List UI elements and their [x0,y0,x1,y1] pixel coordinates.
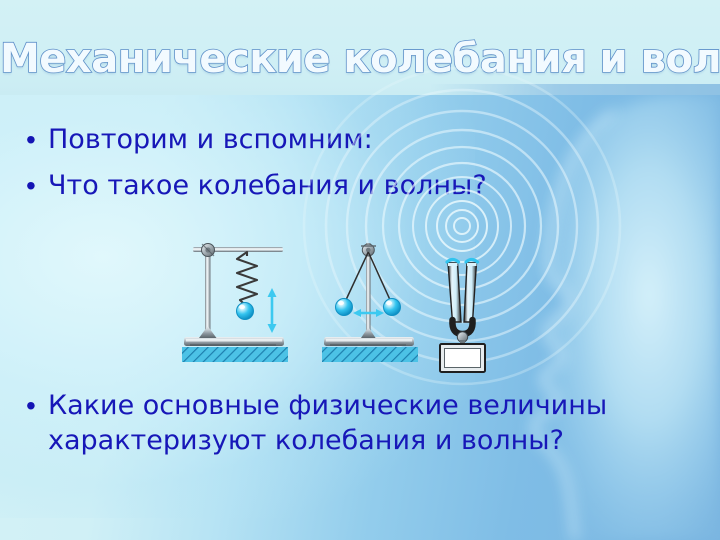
bullet-list-bottom: • Какие основные физические величины хар… [26,388,696,468]
page-title: Механические колебания и волны. [0,36,720,82]
list-item: • Какие основные физические величины хар… [26,388,696,458]
title-band-edge [430,84,720,95]
slide-root: Механические колебания и волны. [0,0,720,540]
bullet-text: Что такое колебания и волны? [48,168,487,203]
bullet-marker-icon: • [26,388,48,424]
bullet-marker-icon: • [26,122,48,158]
list-item: • Что такое колебания и волны? [26,168,686,204]
bullet-list-top: • Повторим и вспомним: • Что такое колеб… [26,122,686,214]
bullet-text: Какие основные физические величины харак… [48,388,658,458]
bullet-text: Повторим и вспомним: [48,122,373,157]
list-item: • Повторим и вспомним: [26,122,686,158]
bullet-marker-icon: • [26,168,48,204]
